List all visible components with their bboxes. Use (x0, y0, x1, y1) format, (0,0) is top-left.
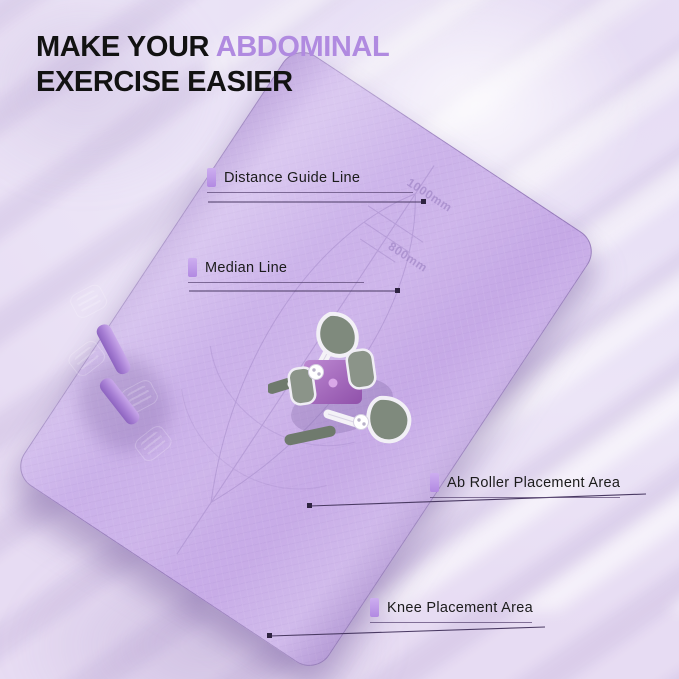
heading-line1-plain: MAKE YOUR (36, 31, 216, 63)
page-title: MAKE YOUR ABDOMINAL EXERCISE EASIER (36, 30, 636, 101)
ab-roller-device (268, 302, 418, 454)
callout-median-line: Median Line (188, 258, 364, 283)
heading-line1-accent: ABDOMINAL (216, 31, 390, 63)
callout-underline (207, 192, 413, 193)
ab-roller-knee-pad-lower (368, 398, 409, 442)
callout-underline (188, 282, 364, 283)
callout-knee-placement-area: Knee Placement Area (370, 598, 533, 623)
dumbbell-head-right (132, 423, 175, 464)
callout-underline (370, 622, 532, 623)
callout-label: Knee Placement Area (387, 600, 533, 616)
ab-roller-knee-pad-upper (318, 314, 357, 356)
dumbbells (52, 318, 182, 466)
callout-ab-roller-placement-area: Ab Roller Placement Area (430, 473, 620, 498)
callout-label: Ab Roller Placement Area (447, 475, 620, 491)
callout-chip-icon (207, 168, 216, 187)
callout-label: Distance Guide Line (224, 170, 360, 186)
callout-underline (430, 497, 620, 498)
callout-distance-guide-line: Distance Guide Line (207, 168, 413, 193)
callout-chip-icon (430, 473, 439, 492)
heading-line2: EXERCISE EASIER (36, 66, 293, 98)
callout-chip-icon (188, 258, 197, 277)
callout-chip-icon (370, 598, 379, 617)
callout-label: Median Line (205, 260, 287, 276)
infographic-canvas: 1000mm 800mm (0, 0, 679, 679)
